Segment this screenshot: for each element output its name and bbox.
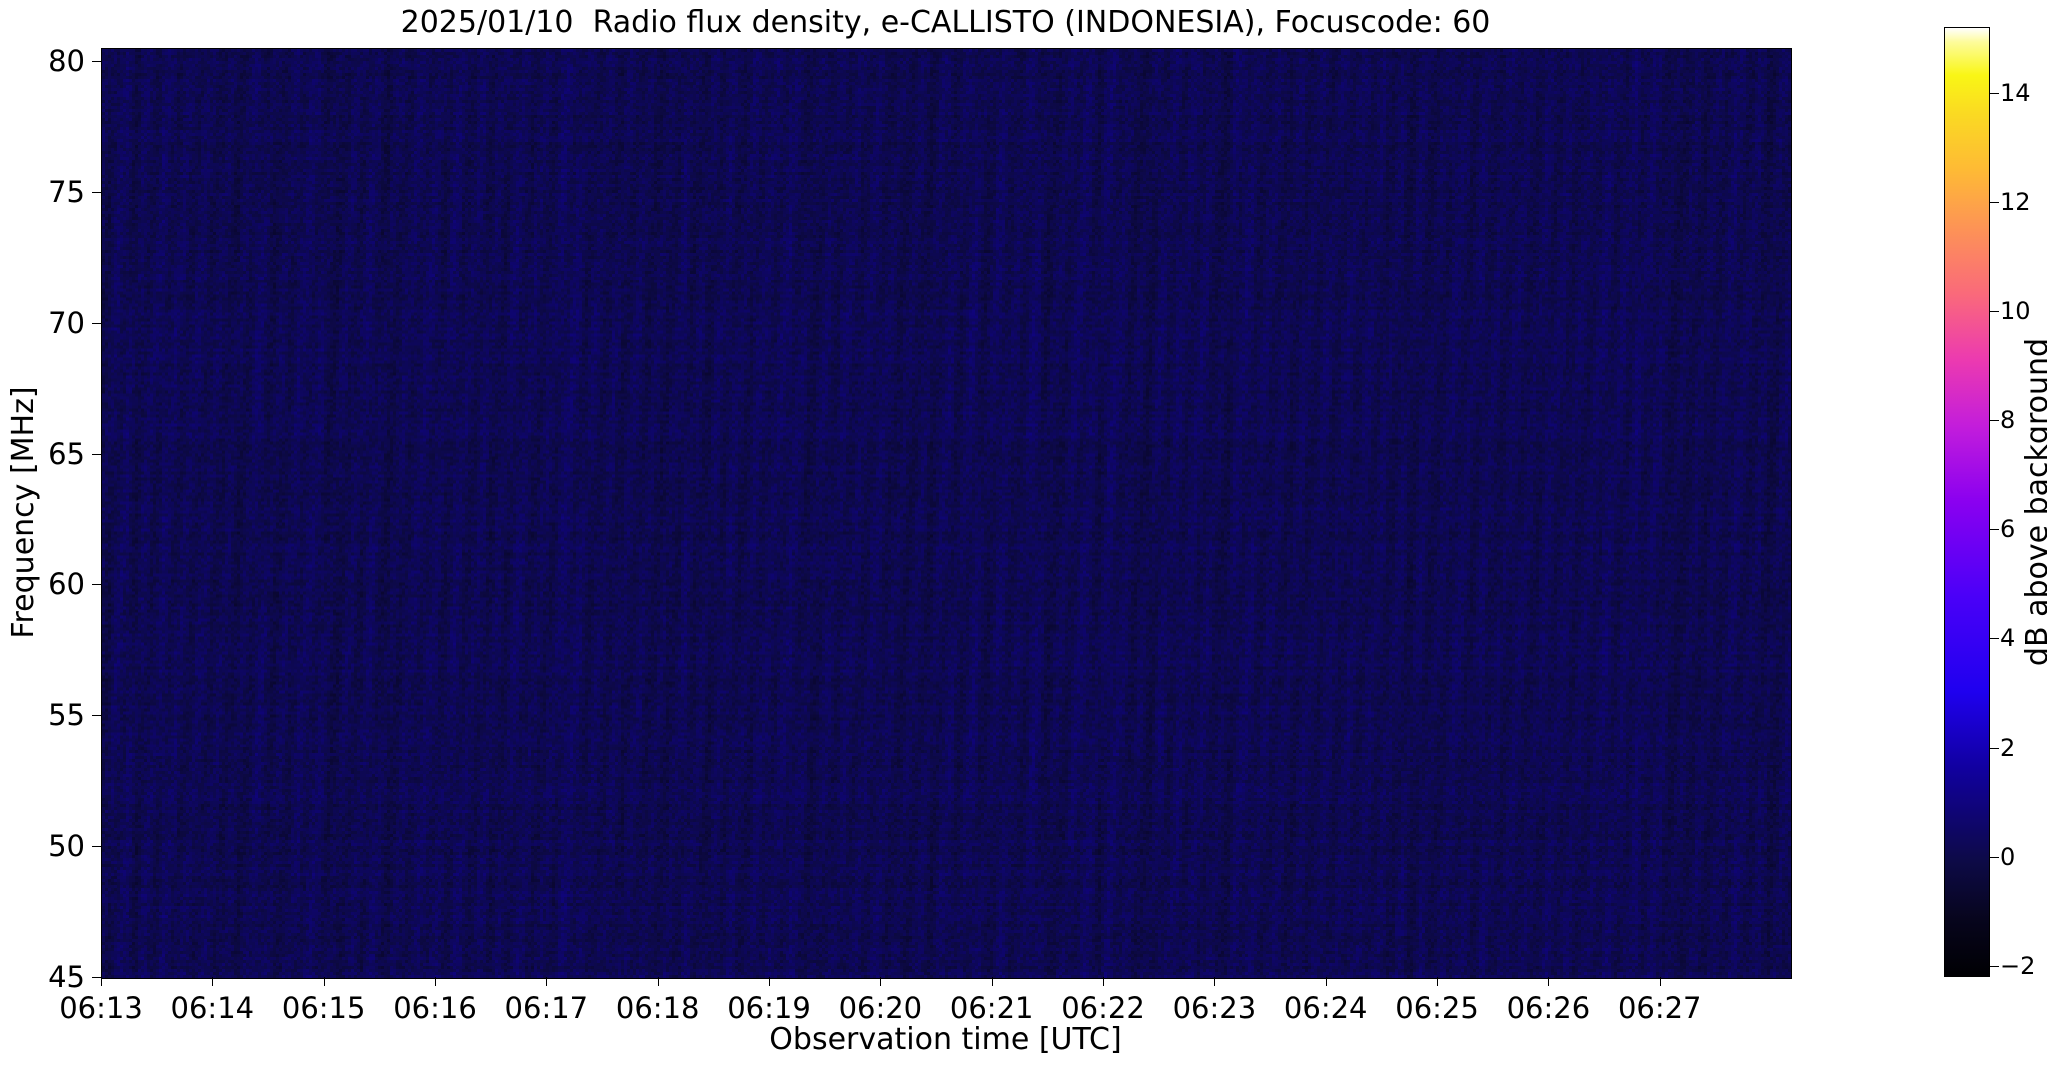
x-tick-mark — [1214, 977, 1215, 986]
colorbar-tick-mark — [1990, 420, 1999, 421]
spectrogram-image — [102, 49, 1791, 978]
colorbar-tick-mark — [1990, 748, 1999, 749]
y-axis-label: Frequency [MHz] — [4, 48, 44, 977]
y-tick-mark — [92, 846, 101, 847]
x-tick-mark — [101, 977, 102, 986]
colorbar-tick-mark — [1990, 202, 1999, 203]
page-title: 2025/01/10 Radio flux density, e-CALLIST… — [101, 4, 1790, 42]
x-tick-mark — [546, 977, 547, 986]
colorbar-tick-mark — [1990, 966, 1999, 967]
colorbar-gradient — [1944, 27, 1990, 977]
colorbar-tick-label: 4 — [2000, 621, 2015, 655]
x-tick-mark — [769, 977, 770, 986]
x-tick-mark — [1660, 977, 1661, 986]
y-tick-mark — [92, 977, 101, 978]
x-axis-label: Observation time [UTC] — [101, 1020, 1790, 1060]
colorbar[interactable]: 14121086420−2 — [1944, 27, 1990, 977]
x-tick-mark — [435, 977, 436, 986]
figure-root: 2025/01/10 Radio flux density, e-CALLIST… — [0, 0, 2047, 1067]
x-tick-mark — [658, 977, 659, 986]
colorbar-tick-mark — [1990, 638, 1999, 639]
x-tick-mark — [1103, 977, 1104, 986]
colorbar-tick-mark — [1990, 311, 1999, 312]
colorbar-tick-label: 8 — [2000, 403, 2015, 437]
colorbar-tick-label: 6 — [2000, 512, 2015, 546]
x-tick-mark — [1326, 977, 1327, 986]
y-tick-mark — [92, 192, 101, 193]
colorbar-tick-mark — [1990, 857, 1999, 858]
y-tick-mark — [92, 61, 101, 62]
x-tick-mark — [880, 977, 881, 986]
colorbar-tick-label: 0 — [2000, 840, 2015, 874]
y-tick-mark — [92, 323, 101, 324]
x-tick-mark — [992, 977, 993, 986]
y-tick-mark — [92, 715, 101, 716]
x-tick-mark — [324, 977, 325, 986]
colorbar-tick-label: 2 — [2000, 731, 2015, 765]
spectrogram-plot-area[interactable] — [101, 48, 1792, 979]
colorbar-tick-mark — [1990, 529, 1999, 530]
x-tick-mark — [1548, 977, 1549, 986]
x-tick-mark — [212, 977, 213, 986]
y-tick-mark — [92, 454, 101, 455]
y-tick-mark — [92, 584, 101, 585]
colorbar-tick-mark — [1990, 93, 1999, 94]
colorbar-label: dB above background — [2018, 27, 2047, 977]
x-tick-mark — [1437, 977, 1438, 986]
